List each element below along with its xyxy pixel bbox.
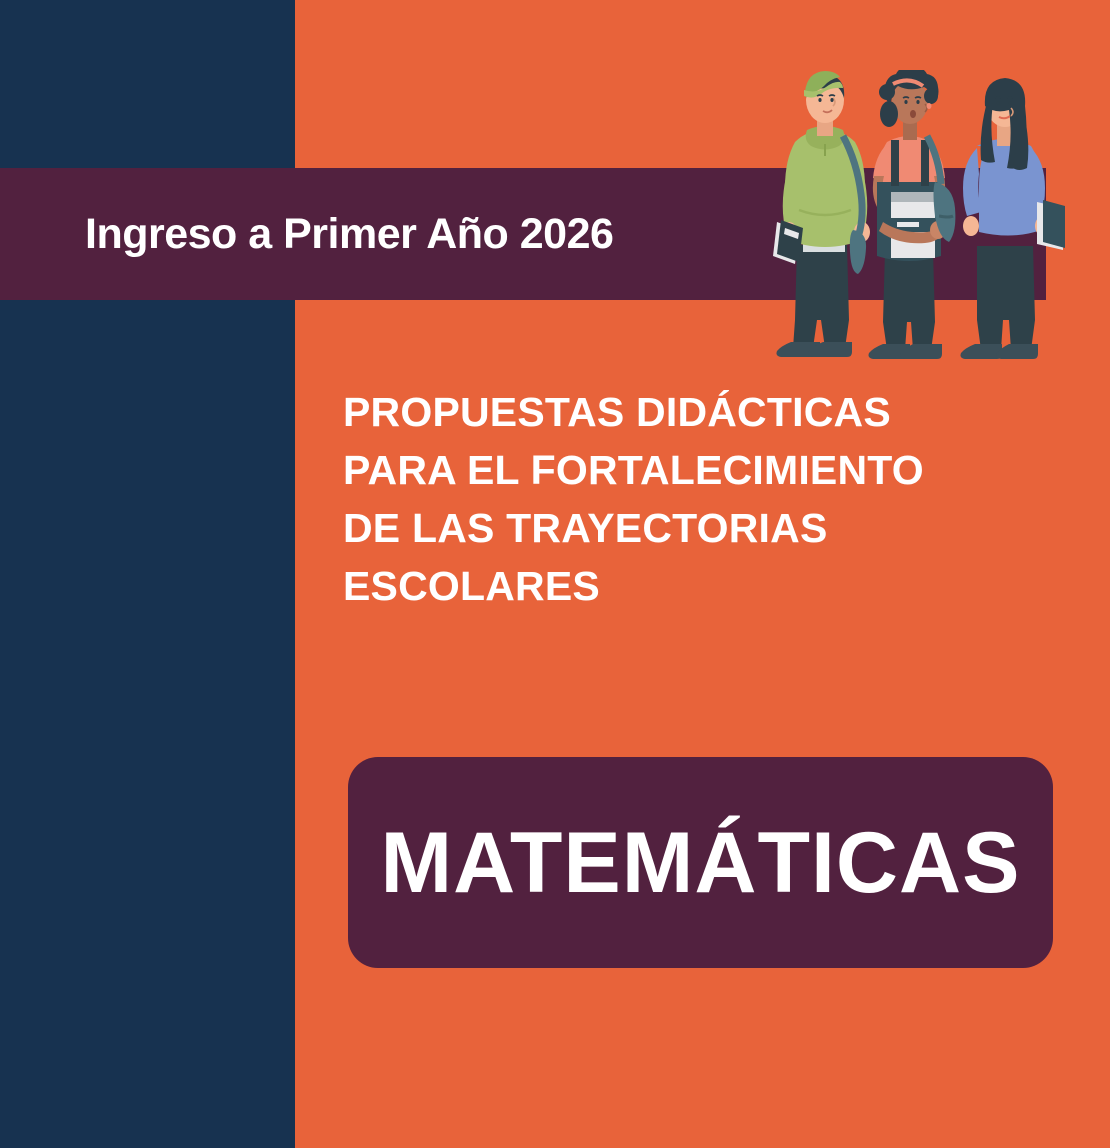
book-right-student — [1037, 200, 1065, 250]
student-center-figure — [869, 70, 956, 359]
book-left-student — [773, 220, 803, 264]
subject-button-matematicas[interactable]: MATEMÁTICAS — [348, 757, 1053, 968]
student-right-figure — [961, 78, 1066, 359]
three-students-illustration — [755, 70, 1095, 360]
heading-line-4: ESCOLARES — [343, 557, 1023, 615]
page-title: PROPUESTAS DIDÁCTICAS PARA EL FORTALECIM… — [343, 383, 1023, 615]
heading-line-3: DE LAS TRAYECTORIAS — [343, 499, 1023, 557]
heading-line-1: PROPUESTAS DIDÁCTICAS — [343, 383, 1023, 441]
banner-title: Ingreso a Primer Año 2026 — [85, 168, 613, 300]
poster-canvas: Ingreso a Primer Año 2026 — [0, 0, 1110, 1148]
subject-button-label: MATEMÁTICAS — [380, 820, 1020, 906]
student-left-figure — [773, 71, 870, 357]
books-center-student — [891, 192, 935, 258]
heading-line-2: PARA EL FORTALECIMIENTO — [343, 441, 1023, 499]
